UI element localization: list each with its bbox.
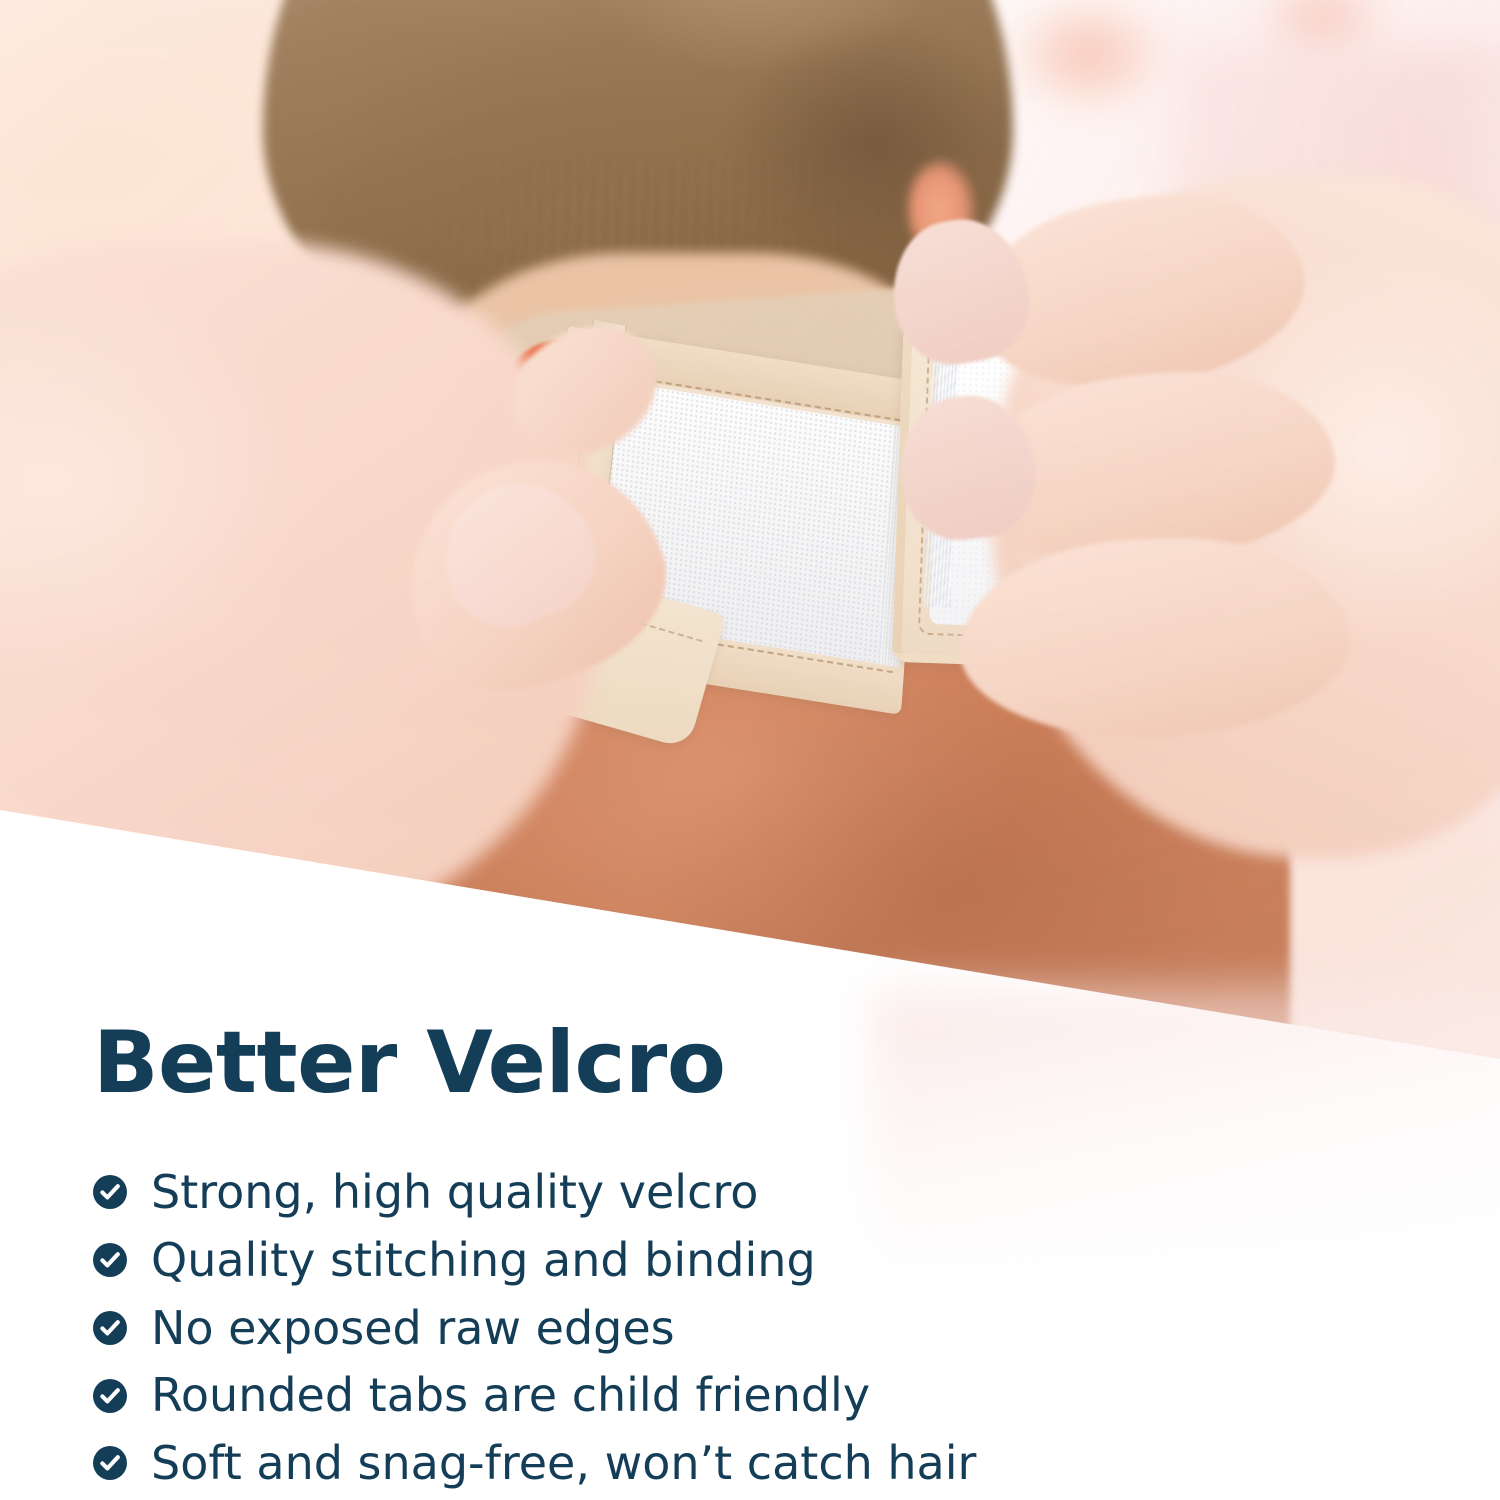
list-item: No exposed raw edges: [93, 1304, 1423, 1353]
list-item: Soft and snag-free, won’t catch hair: [93, 1439, 1423, 1488]
list-item-label: Quality stitching and binding: [151, 1236, 816, 1285]
check-circle-icon: [93, 1379, 127, 1413]
list-item: Quality stitching and binding: [93, 1236, 1423, 1285]
list-item-label: Soft and snag-free, won’t catch hair: [151, 1439, 976, 1488]
check-circle-icon: [93, 1175, 127, 1209]
check-circle-icon: [93, 1243, 127, 1277]
feature-content: Better Velcro Strong, high quality velcr…: [93, 1020, 1423, 1500]
page-title: Better Velcro: [93, 1020, 1423, 1106]
product-feature-infographic: Better Velcro Strong, high quality velcr…: [0, 0, 1500, 1500]
check-circle-icon: [93, 1446, 127, 1480]
list-item: Strong, high quality velcro: [93, 1168, 1423, 1217]
list-item-label: Strong, high quality velcro: [151, 1168, 758, 1217]
feature-list: Strong, high quality velcro Quality stit…: [93, 1168, 1423, 1488]
list-item-label: No exposed raw edges: [151, 1304, 675, 1353]
list-item: Rounded tabs are child friendly: [93, 1371, 1423, 1420]
check-circle-icon: [93, 1311, 127, 1345]
list-item-label: Rounded tabs are child friendly: [151, 1371, 870, 1420]
